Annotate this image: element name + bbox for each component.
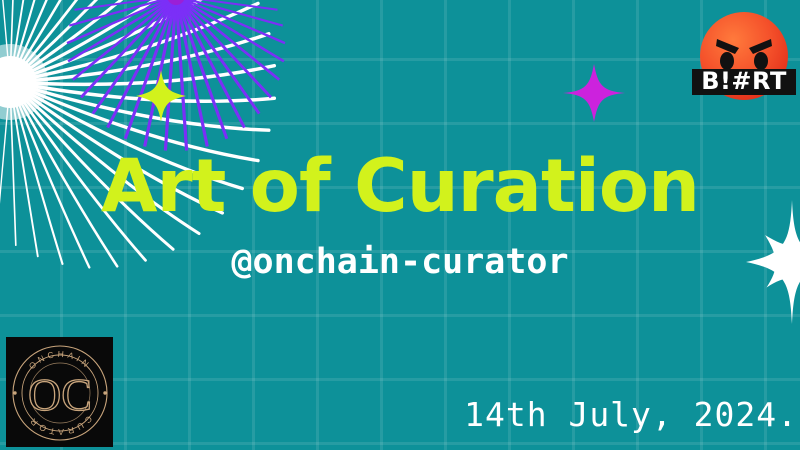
- page-title: Art of Curation: [0, 150, 800, 223]
- title-block: Art of Curation @onchain-curator: [0, 150, 800, 280]
- badge-monogram: OC: [28, 369, 92, 420]
- poster-canvas: Art of Curation @onchain-curator 14th Ju…: [0, 0, 800, 450]
- yellow-sparkle-icon: [136, 70, 186, 122]
- blurt-wordmark: B!#RT: [701, 67, 787, 95]
- blurt-logo: B!#RT: [692, 4, 796, 108]
- onchain-curator-logo: ONCHAIN CURATOR OC: [6, 337, 113, 447]
- author-handle: @onchain-curator: [0, 245, 800, 280]
- purple-starburst-top-icon: [67, 0, 285, 151]
- magenta-sparkle-icon: [563, 64, 625, 122]
- poster-date: 14th July, 2024.: [464, 395, 798, 434]
